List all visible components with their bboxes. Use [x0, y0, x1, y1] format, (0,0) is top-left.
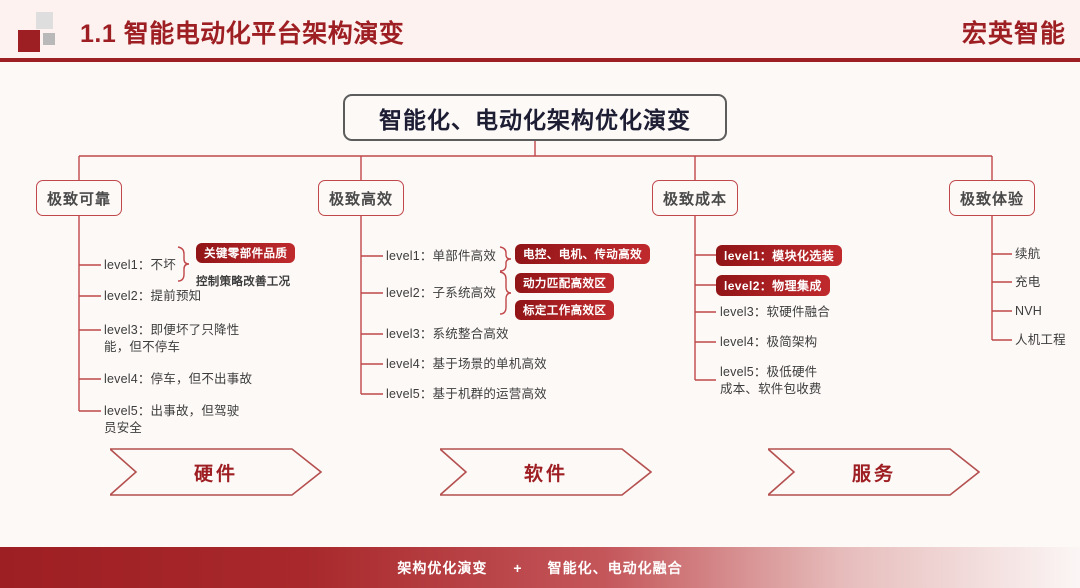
level-item: level3：软硬件融合: [720, 304, 830, 321]
annotation-badge: 电控、电机、传动高效: [515, 244, 650, 264]
annotation-badge: 关键零部件品质: [196, 243, 295, 263]
logo-square-large-icon: [18, 30, 40, 52]
header-divider: [0, 58, 1080, 62]
level-item: NVH: [1015, 303, 1042, 320]
logo-mark: [14, 10, 62, 52]
branch-node-experience[interactable]: 极致体验: [949, 180, 1035, 216]
slide-footer: 架构优化演变 + 智能化、电动化融合: [0, 547, 1080, 588]
level-item: level3：系统整合高效: [386, 326, 509, 343]
banner-label: 软件: [440, 448, 652, 496]
level-item: 续航: [1015, 246, 1040, 263]
footer-plus-sign: +: [513, 560, 521, 576]
level-item: level2：子系统高效: [386, 285, 496, 302]
banner-hardware[interactable]: 硬件: [110, 448, 322, 496]
annotation-badge: 标定工作高效区: [515, 300, 614, 320]
annotation-badge: 动力匹配高效区: [515, 273, 614, 293]
level-item: 充电: [1015, 274, 1040, 291]
level-item: level5：基于机群的运营高效: [386, 386, 547, 403]
level-item: level5：出事故，但驾驶 员安全: [104, 403, 239, 437]
level-item: level4：停车，但不出事故: [104, 371, 252, 388]
banner-service[interactable]: 服务: [768, 448, 980, 496]
slide-canvas: 1.1 智能电动化平台架构演变 宏英智能: [0, 0, 1080, 588]
branch-node-cost[interactable]: 极致成本: [652, 180, 738, 216]
banner-label: 硬件: [110, 448, 322, 496]
footer-right-text: 智能化、电动化融合: [548, 558, 683, 578]
branch-node-reliability[interactable]: 极致可靠: [36, 180, 122, 216]
branch-node-efficiency[interactable]: 极致高效: [318, 180, 404, 216]
footer-content: 架构优化演变 + 智能化、电动化融合: [397, 558, 682, 578]
logo-square-small-icon: [43, 33, 55, 45]
level-item: level3：即便坏了只降性 能，但不停车: [104, 322, 239, 356]
page-title: 1.1 智能电动化平台架构演变: [80, 14, 404, 50]
level-item: level2：提前预知: [104, 288, 201, 305]
diagram-root-title: 智能化、电动化架构优化演变: [343, 94, 727, 141]
footer-left-text: 架构优化演变: [397, 558, 487, 578]
level-item-highlighted: level2：物理集成: [716, 275, 830, 296]
logo-square-top-icon: [36, 12, 53, 29]
slide-header: 1.1 智能电动化平台架构演变 宏英智能: [0, 0, 1080, 62]
annotation-note: 控制策略改善工况: [196, 273, 290, 289]
level-item: level4：极简架构: [720, 334, 817, 351]
level-item: 人机工程: [1015, 332, 1066, 349]
brand-logo-text: 宏英智能: [962, 14, 1066, 50]
banner-software[interactable]: 软件: [440, 448, 652, 496]
level-item: level4：基于场景的单机高效: [386, 356, 547, 373]
banner-label: 服务: [768, 448, 980, 496]
level-item: level1：不坏: [104, 257, 176, 274]
level-item: level1：单部件高效: [386, 248, 496, 265]
level-item-highlighted: level1：模块化选装: [716, 245, 842, 266]
level-item: level5：极低硬件 成本、软件包收费: [720, 364, 822, 398]
